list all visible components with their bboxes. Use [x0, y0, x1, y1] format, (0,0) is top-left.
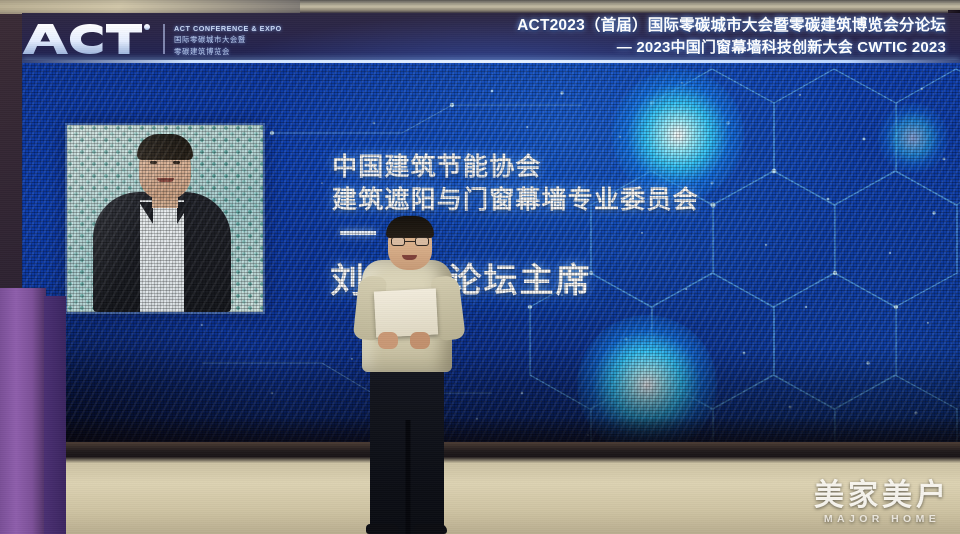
- speaker-role: 论坛主席: [447, 253, 591, 302]
- logo-tagline-cn-2: 零碳建筑博览会: [174, 46, 282, 57]
- organization-block: 中国建筑节能协会 建筑遮阳与门窗幕墙专业委员会: [332, 151, 699, 217]
- logo-tagline-cn-1: 国际零碳城市大会暨: [174, 34, 282, 45]
- presenter-leg-gap: [406, 420, 411, 534]
- ceiling-left-panel: [0, 0, 300, 14]
- presenter-glasses-icon: [391, 237, 429, 246]
- organization-line-1: 中国建筑节能协会: [332, 151, 699, 183]
- event-title: ACT2023（首届）国际零碳城市大会暨零碳建筑博览会分论坛 — 2023中国门…: [517, 15, 946, 58]
- logo-divider: [163, 24, 165, 54]
- led-video-wall: ACT CONFERENCE & EXPO 国际零碳城市大会暨 零碳建筑博览会 …: [22, 13, 960, 459]
- event-title-line-1: ACT2023（首届）国际零碳城市大会暨零碳建筑博览会分论坛: [517, 15, 946, 37]
- watermark-chinese: 美家美户: [814, 480, 950, 512]
- act-logo: ACT CONFERENCE & EXPO 国际零碳城市大会暨 零碳建筑博览会: [22, 19, 282, 59]
- watermark-english: MAJOR HOME: [814, 512, 950, 526]
- event-title-line-2: — 2023中国门窗幕墙科技创新大会 CWTIC 2023: [517, 37, 946, 58]
- conference-stage-photo: ACT CONFERENCE & EXPO 国际零碳城市大会暨 零碳建筑博览会 …: [0, 0, 960, 534]
- presenter-hand-left: [378, 332, 398, 349]
- presenter-hand-right: [410, 332, 430, 349]
- organization-line-2: 建筑遮阳与门窗幕墙专业委员会: [332, 183, 699, 217]
- glow-node-small: [878, 103, 948, 173]
- slide-body: 中国建筑节能协会 建筑遮阳与门窗幕墙专业委员会 刘 奇 论坛主席: [22, 63, 960, 459]
- speaker-portrait-photo: [67, 125, 263, 312]
- presenter-shoe-right: [414, 524, 447, 534]
- presenter-shoe-left: [366, 524, 399, 534]
- presenter-hair: [386, 216, 434, 238]
- presenter-script-paper: [374, 288, 438, 337]
- act-logo-icon: [22, 19, 162, 59]
- purple-pillar-shadow-side: [44, 296, 66, 534]
- portrait-glare: [67, 125, 263, 312]
- purple-pillar: [0, 288, 46, 534]
- presenter-on-stage: [352, 224, 464, 534]
- watermark: 美家美户 MAJOR HOME: [814, 480, 950, 526]
- logo-tagline-en: ACT CONFERENCE & EXPO: [174, 24, 282, 33]
- slide-header-bar: ACT CONFERENCE & EXPO 国际零碳城市大会暨 零碳建筑博览会 …: [22, 13, 960, 63]
